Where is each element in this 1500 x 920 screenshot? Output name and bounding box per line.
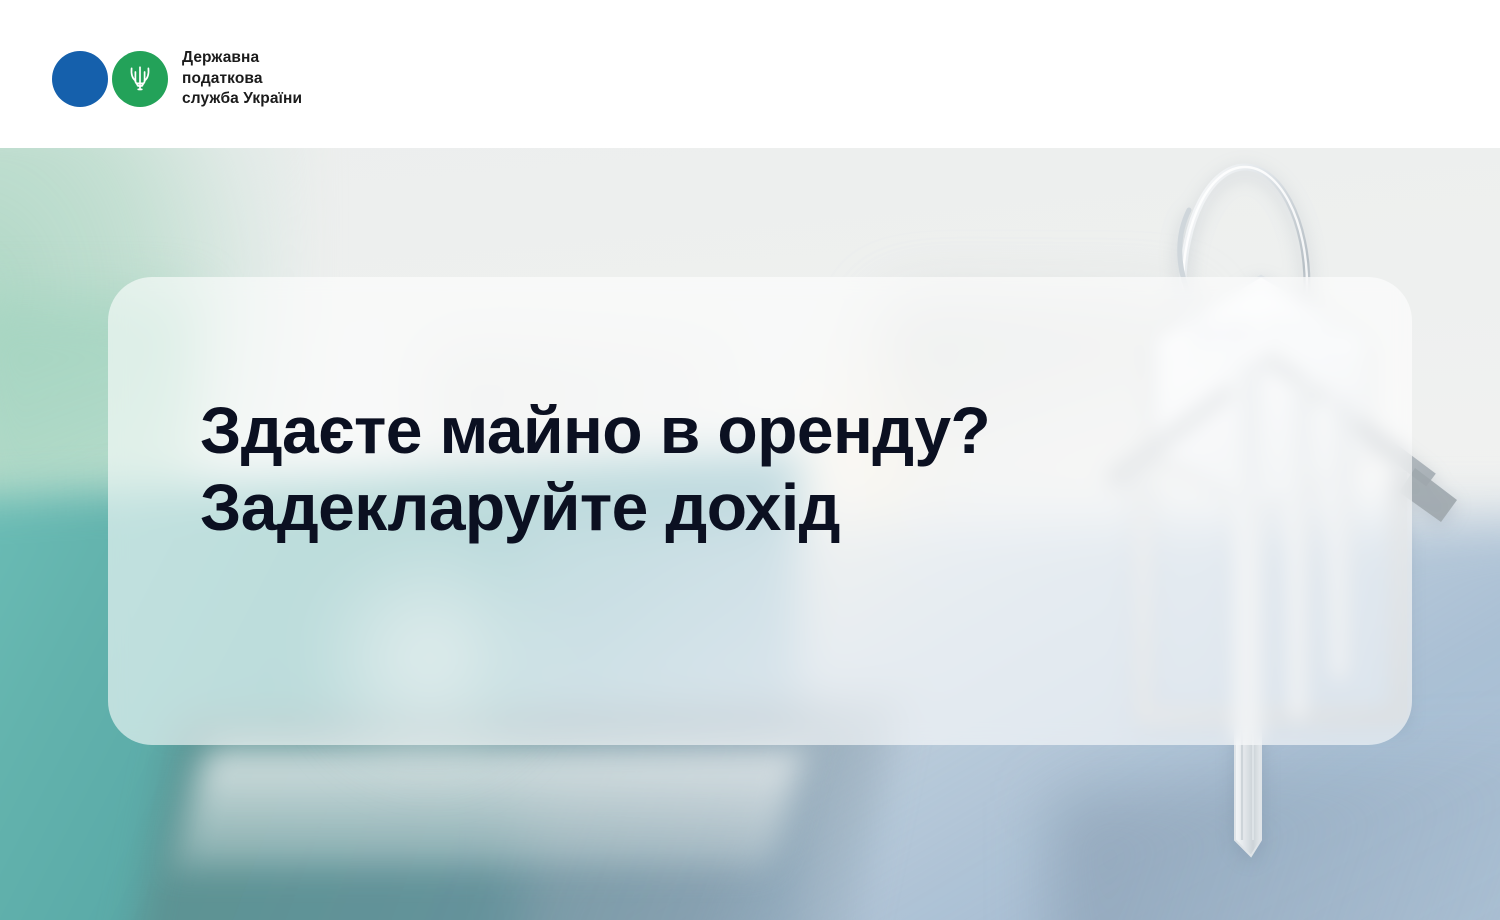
banner-stage: Державна податкова служба України bbox=[0, 0, 1500, 920]
tax-service-logo[interactable]: Державна податкова служба України bbox=[52, 48, 302, 110]
circle-green-trident-icon bbox=[112, 51, 168, 107]
logo-marks bbox=[52, 51, 168, 107]
circle-blue-icon bbox=[52, 51, 108, 107]
headline-line-1: Здаєте майно в оренду? bbox=[200, 392, 1420, 469]
logo-line-3: служба України bbox=[182, 89, 302, 110]
site-header: Державна податкова служба України bbox=[0, 0, 1500, 148]
logo-wordmark: Державна податкова служба України bbox=[182, 48, 302, 110]
logo-line-2: податкова bbox=[182, 69, 302, 90]
logo-line-1: Державна bbox=[182, 48, 302, 69]
ukraine-trident-icon bbox=[127, 63, 153, 95]
banner-headline: Здаєте майно в оренду? Задекларуйте дохі… bbox=[200, 392, 1420, 545]
headline-line-2: Задекларуйте дохід bbox=[200, 469, 1420, 546]
